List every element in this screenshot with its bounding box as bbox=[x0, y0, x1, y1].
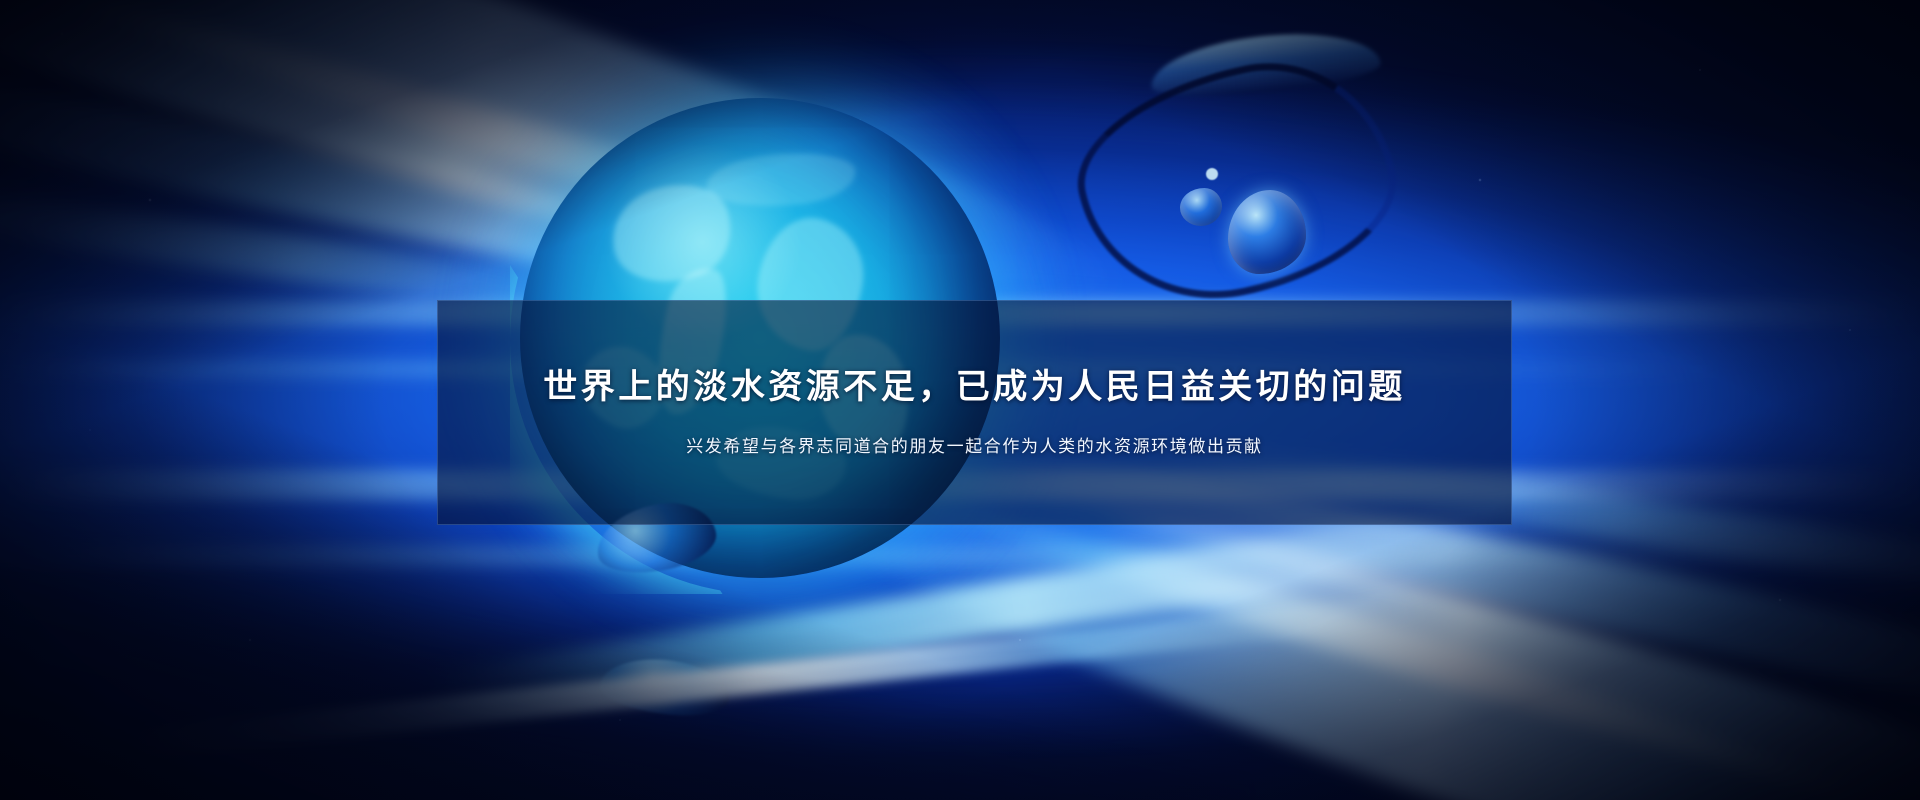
hero-text-panel: 世界上的淡水资源不足，已成为人民日益关切的问题 兴发希望与各界志同道合的朋友一起… bbox=[437, 300, 1512, 525]
wave-shadow bbox=[0, 570, 1250, 800]
page-title: 世界上的淡水资源不足，已成为人民日益关切的问题 bbox=[438, 366, 1511, 409]
water-droplet-icon bbox=[1180, 188, 1222, 226]
page-subtitle: 兴发希望与各界志同道合的朋友一起合作为人类的水资源环境做出贡献 bbox=[438, 434, 1511, 460]
water-droplet-icon bbox=[1206, 168, 1218, 180]
continent-shape bbox=[704, 148, 858, 213]
water-splash-icon bbox=[1060, 40, 1414, 324]
water-resources-hero-banner: 世界上的淡水资源不足，已成为人民日益关切的问题 兴发希望与各界志同道合的朋友一起… bbox=[0, 0, 1920, 800]
hero-text-content: 世界上的淡水资源不足，已成为人民日益关切的问题 兴发希望与各界志同道合的朋友一起… bbox=[438, 366, 1511, 460]
continent-shape bbox=[600, 170, 744, 298]
